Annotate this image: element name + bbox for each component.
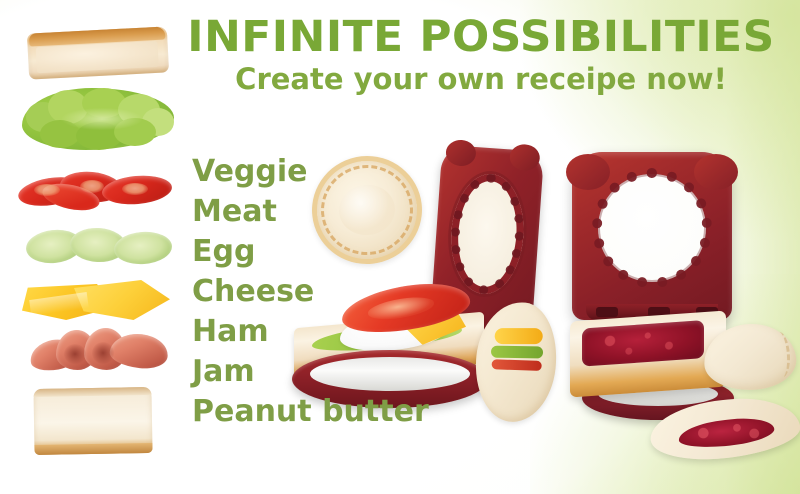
list-item: Veggie xyxy=(192,152,402,192)
toasted-bread-slice-icon xyxy=(27,26,169,79)
jam-bread-slice xyxy=(570,311,726,398)
ham-slices-icon xyxy=(30,328,170,374)
sandwich-sealer-front-with-pbj xyxy=(566,148,800,448)
cucumber-slices-icon xyxy=(26,226,174,266)
sealer-front xyxy=(572,152,732,320)
list-item: Egg xyxy=(192,232,402,272)
list-item: Cheese xyxy=(192,272,402,312)
white-bread-slice-icon xyxy=(33,387,152,455)
product-advertisement-banner: INFINITE POSSIBILITIES Create your own r… xyxy=(0,0,800,494)
list-item: Peanut butter xyxy=(192,392,402,432)
headline-block: INFINITE POSSIBILITIES Create your own r… xyxy=(186,14,776,96)
list-item: Ham xyxy=(192,312,402,352)
list-item: Meat xyxy=(192,192,402,232)
lettuce-leaf-icon xyxy=(22,88,174,150)
page-subtitle: Create your own receipe now! xyxy=(186,62,776,96)
cheese-slices-icon xyxy=(22,278,170,326)
list-item: Jam xyxy=(192,352,402,392)
ingredient-photo-column xyxy=(0,0,190,494)
ingredient-list: Veggie Meat Egg Cheese Ham Jam Peanut bu… xyxy=(192,152,402,432)
page-title: INFINITE POSSIBILITIES xyxy=(180,14,782,60)
tomato-slices-icon xyxy=(18,170,174,212)
